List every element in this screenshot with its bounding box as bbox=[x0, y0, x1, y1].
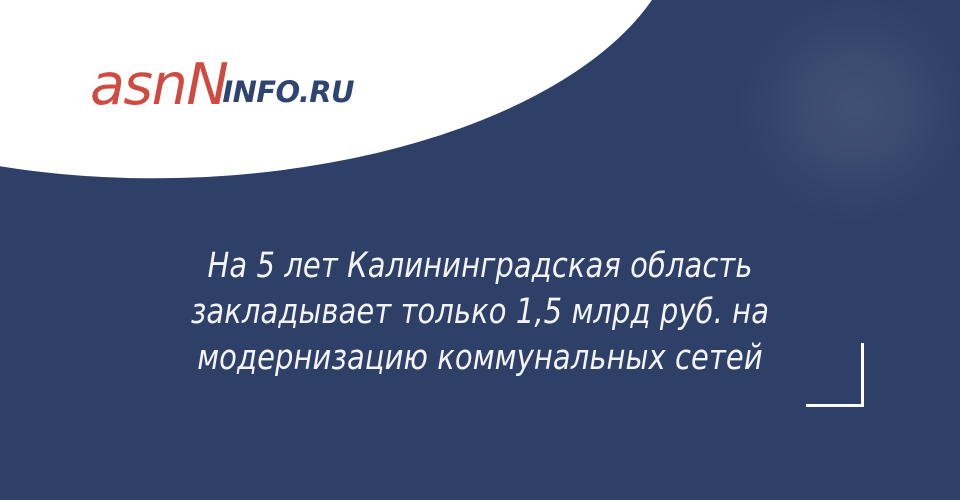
logo-asn-text: asnN bbox=[90, 62, 227, 110]
bracket-horizontal-bar bbox=[806, 404, 864, 407]
headline-line-3: модернизацию коммунальных сетей bbox=[121, 335, 839, 381]
logo-info-text: INFO.RU bbox=[222, 78, 354, 107]
logo-n-letter: N bbox=[186, 52, 227, 118]
headline-title: На 5 лет Калининградская область заклады… bbox=[121, 243, 839, 381]
headline-line-2: закладывает только 1,5 млрд руб. на bbox=[121, 289, 839, 335]
bracket-vertical-bar bbox=[861, 343, 864, 407]
news-share-card: asnN INFO.RU На 5 лет Калининградская об… bbox=[0, 0, 960, 500]
headline-line-1: На 5 лет Калининградская область bbox=[121, 243, 839, 289]
asninfo-logo[interactable]: asnN INFO.RU bbox=[90, 54, 354, 110]
corner-bracket-decoration bbox=[806, 343, 864, 407]
radial-glow-decoration bbox=[735, 0, 960, 225]
